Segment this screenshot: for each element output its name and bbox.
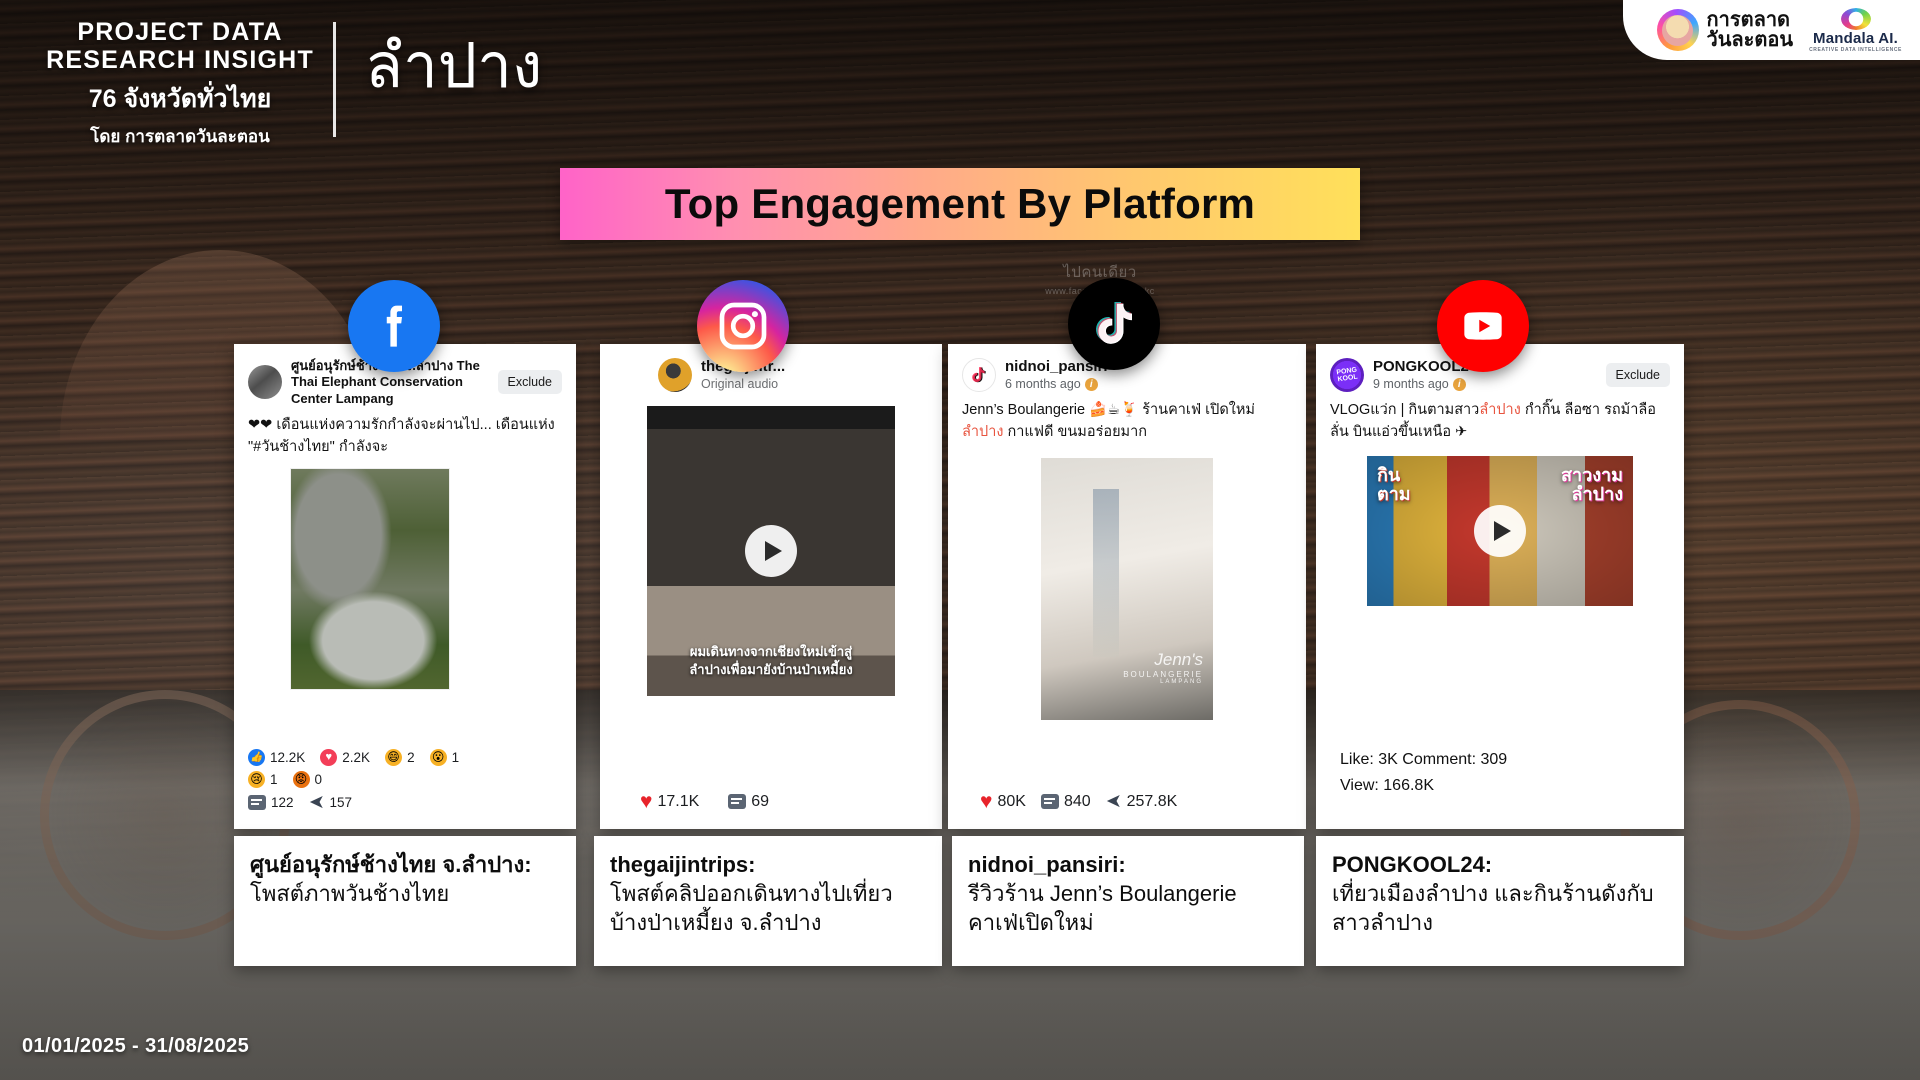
caption-card: thegaijintrips:โพสต์คลิปออกเดินทางไปเที่… (594, 836, 942, 966)
caption-account: PONGKOOL24: (1332, 852, 1492, 877)
post-stats: Like: 3K Comment: 309 View: 166.8K (1316, 743, 1684, 815)
like-reaction-icon (248, 749, 265, 766)
youtube-icon[interactable] (1437, 280, 1529, 372)
info-icon[interactable]: i (1453, 378, 1466, 391)
reaction-like-value: 12.2K (270, 750, 305, 765)
comment-stat: 840 (1041, 793, 1091, 811)
brand-line-2: RESEARCH INSIGHT (30, 46, 330, 74)
share-icon: ➤ (309, 793, 325, 812)
instagram-icon[interactable] (697, 280, 789, 372)
reaction-wow: 1 (430, 749, 460, 766)
post-text-highlight: ลำปาง (962, 424, 1003, 440)
posts-row: ศูนย์อนุรักษ์ช้างไทย จ.ลำปาง The Thai El… (0, 344, 1920, 829)
image-brand-line-2: BOULANGERIE (1123, 670, 1203, 679)
caption-card: nidnoi_pansiri:รีวิวร้าน Jenn’s Boulange… (952, 836, 1304, 966)
post-stats: ♥ 17.1K 69 (600, 783, 942, 829)
mandala-logo-name: Mandala AI. (1813, 31, 1898, 46)
section-title-banner: Top Engagement By Platform (560, 168, 1360, 240)
image-brand-line-3: LAMPANG (1123, 679, 1203, 686)
comment-icon (1041, 794, 1059, 809)
kartalad-logo-line-2: วันละตอน (1707, 30, 1794, 50)
share-stat: ➤ 257.8K (1106, 792, 1178, 811)
reaction-love-value: 2.2K (342, 750, 370, 765)
caption-card: ศูนย์อนุรักษ์ช้างไทย จ.ลำปาง: โพสต์ภาพวั… (234, 836, 576, 966)
captions-row: ศูนย์อนุรักษ์ช้างไทย จ.ลำปาง: โพสต์ภาพวั… (0, 836, 1920, 968)
header-divider (333, 22, 336, 137)
comment-stat: 69 (728, 793, 769, 811)
post-time-text: 6 months ago (1005, 377, 1081, 393)
caption-text: โพสต์ภาพวันช้างไทย (250, 881, 449, 906)
thumbnail-text-left: กินตาม (1377, 466, 1411, 504)
engagement-row: 122 ➤ 157 (248, 793, 562, 812)
avatar (962, 358, 996, 392)
reaction-wow-value: 1 (452, 750, 460, 765)
reaction-like: 12.2K (248, 749, 305, 766)
reaction-sad-value: 1 (270, 772, 278, 787)
caption-text: เที่ยวเมืองลำปาง และกินร้านดังกับสาวลำปา… (1332, 881, 1654, 935)
post-image[interactable] (290, 468, 450, 690)
post-stats: 12.2K 2.2K 2 1 1 (234, 741, 576, 829)
image-brand-line-1: Jenn's (1123, 650, 1203, 670)
reaction-angry-value: 0 (315, 772, 323, 787)
brand-line-4: โดย การตลาดวันละตอน (30, 123, 330, 150)
brand-line-3: 76 จังหวัดทั่วไทย (30, 79, 330, 119)
video-caption-line-1: ผมเดินทางจากเชียงใหม่เข้าสู่ (647, 643, 895, 661)
mandala-ring-icon (1841, 8, 1871, 30)
post-video-thumbnail[interactable]: กินตาม สาวงามลำปาง (1367, 456, 1633, 606)
play-icon[interactable] (745, 525, 797, 577)
date-range-label: 01/01/2025 - 31/08/2025 (22, 1035, 249, 1058)
section-title-text: Top Engagement By Platform (665, 180, 1255, 228)
caption-body: thegaijintrips:โพสต์คลิปออกเดินทางไปเที่… (610, 850, 926, 937)
caption-body: PONGKOOL24:เที่ยวเมืองลำปาง และกินร้านดั… (1332, 850, 1668, 937)
love-reaction-icon (320, 749, 337, 766)
post-card-instagram[interactable]: thegaijintr... Original audio ผมเดินทางจ… (600, 344, 942, 829)
heart-icon: ♥ (640, 791, 652, 812)
audio-label: Original audio (701, 377, 928, 393)
post-text: VLOGแว่ก | กินตามสาวลำปาง กำกิ๊น ลือซา ร… (1316, 396, 1684, 450)
heart-icon: ♥ (980, 791, 992, 812)
play-icon[interactable] (1474, 505, 1526, 557)
wow-reaction-icon (430, 749, 447, 766)
caption-text: โพสต์คลิปออกเดินทางไปเที่ยวบ้างป่าเหมี้ย… (610, 881, 893, 935)
kartalad-mark-inner-icon (1662, 15, 1693, 46)
reaction-haha: 2 (385, 749, 415, 766)
engagement-row: ♥ 80K 840 ➤ 257.8K (980, 791, 1292, 812)
post-stats: ♥ 80K 840 ➤ 257.8K (948, 783, 1306, 829)
comment-value: 840 (1064, 793, 1091, 811)
logo-bar: การตลาด วันละตอน Mandala AI. CREATIVE DA… (1623, 0, 1920, 60)
kartalad-mark-icon (1657, 9, 1699, 51)
caption-body: nidnoi_pansiri:รีวิวร้าน Jenn’s Boulange… (968, 850, 1288, 937)
caption-text: รีวิวร้าน Jenn’s Boulangerie คาเฟ่เปิดให… (968, 881, 1237, 935)
comment-value: 69 (751, 793, 769, 811)
reaction-sad: 1 (248, 771, 278, 788)
page-title: ลำปาง (365, 28, 542, 106)
caption-account: thegaijintrips: (610, 852, 755, 877)
post-time: 9 months ago i (1373, 377, 1597, 393)
video-caption: ผมเดินทางจากเชียงใหม่เข้าสู่ ลำปางเพื่อม… (647, 643, 895, 678)
kartalad-logo-text: การตลาด วันละตอน (1707, 10, 1794, 50)
post-video[interactable]: ผมเดินทางจากเชียงใหม่เข้าสู่ ลำปางเพื่อม… (647, 406, 895, 696)
stats-line-1: Like: 3K Comment: 309 (1340, 751, 1670, 769)
reaction-angry: 0 (293, 771, 323, 788)
comment-icon (728, 794, 746, 809)
engagement-row: ♥ 17.1K 69 (640, 791, 928, 812)
share-value: 257.8K (1127, 793, 1178, 811)
post-account-block: nidnoi_pansiri 6 months ago i (1005, 358, 1292, 392)
caption-card: PONGKOOL24:เที่ยวเมืองลำปาง และกินร้านดั… (1316, 836, 1684, 966)
post-text: ❤❤ เดือนแห่งความรักกำลังจะผ่านไป... เดือ… (234, 411, 576, 465)
post-time-text: 9 months ago (1373, 377, 1449, 393)
facebook-icon[interactable] (348, 280, 440, 372)
avatar (658, 358, 692, 392)
like-value: 80K (997, 793, 1025, 811)
post-text: Jenn’s Boulangerie 🍰☕🍹 ร้านคาเฟ่ เปิดใหม… (948, 396, 1306, 450)
like-stat: ♥ 80K (980, 791, 1026, 812)
comment-stat: 122 (248, 795, 294, 810)
haha-reaction-icon (385, 749, 402, 766)
caption-body: ศูนย์อนุรักษ์ช้างไทย จ.ลำปาง: โพสต์ภาพวั… (250, 850, 560, 908)
angry-reaction-icon (293, 771, 310, 788)
video-caption-line-2: ลำปางเพื่อมายังบ้านป่าเหมี้ยง (647, 661, 895, 679)
share-stat: ➤ 157 (309, 793, 352, 812)
sad-reaction-icon (248, 771, 265, 788)
avatar: PONGKOOL (1330, 358, 1364, 392)
reaction-row-2: 1 0 (248, 771, 562, 788)
stats-line-2: View: 166.8K (1340, 777, 1670, 795)
brand-block: PROJECT DATA RESEARCH INSIGHT 76 จังหวัด… (30, 18, 330, 150)
like-stat: ♥ 17.1K (640, 791, 699, 812)
post-text-pre: Jenn’s Boulangerie 🍰☕🍹 ร้านคาเฟ่ เปิดใหม… (962, 402, 1255, 418)
post-card-tiktok[interactable]: nidnoi_pansiri 6 months ago i Jenn’s Bou… (948, 344, 1306, 829)
comment-value: 122 (271, 795, 294, 810)
like-value: 17.1K (657, 793, 699, 811)
reaction-love: 2.2K (320, 749, 370, 766)
reaction-haha-value: 2 (407, 750, 415, 765)
thumbnail-text-right: สาวงามลำปาง (1561, 466, 1623, 504)
share-value: 157 (329, 795, 352, 810)
exclude-button[interactable]: Exclude (1606, 363, 1670, 387)
kartalad-logo-line-1: การตลาด (1707, 10, 1794, 30)
post-time: 6 months ago i (1005, 377, 1292, 393)
avatar-label: PONGKOOL (1336, 367, 1358, 383)
post-card-facebook[interactable]: ศูนย์อนุรักษ์ช้างไทย จ.ลำปาง The Thai El… (234, 344, 576, 829)
post-text-post: กาแฟดี ขนมอร่อยมาก (1003, 424, 1147, 440)
avatar (248, 365, 282, 399)
info-icon[interactable]: i (1085, 378, 1098, 391)
caption-account: ศูนย์อนุรักษ์ช้างไทย จ.ลำปาง: (250, 852, 532, 877)
brand-line-1: PROJECT DATA (30, 18, 330, 46)
kartalad-logo: การตลาด วันละตอน (1657, 9, 1794, 51)
mandala-logo: Mandala AI. CREATIVE DATA INTELLIGENCE (1809, 8, 1902, 53)
share-icon: ➤ (1106, 792, 1122, 811)
caption-account: nidnoi_pansiri: (968, 852, 1126, 877)
post-card-youtube[interactable]: PONGKOOL PONGKOOL24 9 months ago i Exclu… (1316, 344, 1684, 829)
post-text-highlight: ลำปาง (1479, 402, 1520, 418)
comment-icon (248, 795, 266, 810)
exclude-button[interactable]: Exclude (498, 370, 562, 394)
post-image[interactable]: Jenn's BOULANGERIE LAMPANG (1041, 458, 1213, 720)
account-name: nidnoi_pansiri (1005, 358, 1292, 377)
mandala-logo-tagline: CREATIVE DATA INTELLIGENCE (1809, 47, 1902, 53)
post-text-pre: VLOGแว่ก | กินตามสาว (1330, 402, 1479, 418)
reaction-row-1: 12.2K 2.2K 2 1 (248, 749, 562, 766)
tiktok-icon[interactable] (1068, 278, 1160, 370)
